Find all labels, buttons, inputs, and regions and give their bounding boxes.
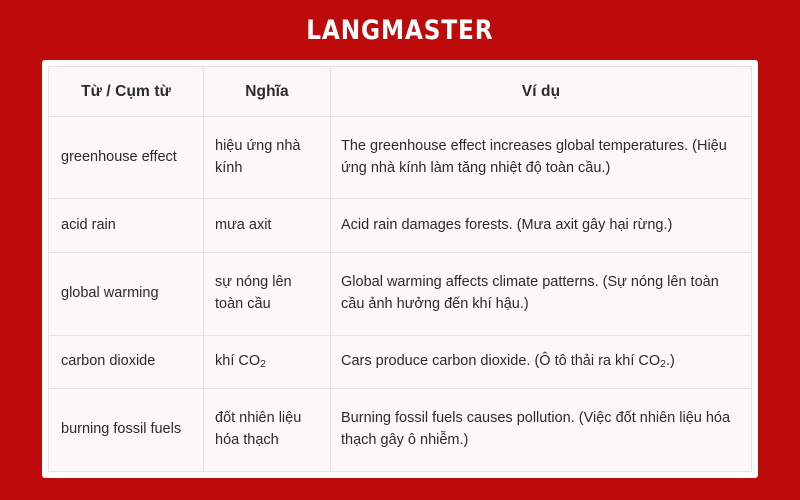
example-text: Global warming affects climate patterns.… bbox=[341, 274, 719, 312]
poster-root: LANGMASTER Từ / Cụm từ Nghĩa Ví dụ green… bbox=[0, 0, 800, 500]
brand-header: LANGMASTER bbox=[0, 0, 800, 60]
cell-term: carbon dioxide bbox=[49, 335, 204, 389]
cell-meaning: khí CO2 bbox=[204, 335, 331, 389]
example-text-tail: .) bbox=[666, 353, 675, 369]
example-text: Acid rain damages forests. (Mưa axit gây… bbox=[341, 217, 672, 233]
cell-example: Global warming affects climate patterns.… bbox=[331, 253, 752, 335]
cell-example: Burning fossil fuels causes pollution. (… bbox=[331, 389, 752, 472]
meaning-text: khí CO bbox=[215, 353, 260, 369]
table-header-row: Từ / Cụm từ Nghĩa Ví dụ bbox=[49, 67, 752, 117]
table-row: carbon dioxide khí CO2 Cars produce carb… bbox=[49, 335, 752, 389]
example-text: Cars produce carbon dioxide. (Ô tô thải … bbox=[341, 353, 660, 369]
table-row: burning fossil fuels đốt nhiên liệu hóa … bbox=[49, 389, 752, 472]
cell-term: greenhouse effect bbox=[49, 117, 204, 199]
subscript-two: 2 bbox=[660, 359, 666, 370]
table-body: greenhouse effect hiệu ứng nhà kính The … bbox=[49, 117, 752, 472]
cell-example: Cars produce carbon dioxide. (Ô tô thải … bbox=[331, 335, 752, 389]
cell-term: global warming bbox=[49, 253, 204, 335]
table-header: Từ / Cụm từ Nghĩa Ví dụ bbox=[49, 67, 752, 117]
cell-meaning: đốt nhiên liệu hóa thạch bbox=[204, 389, 331, 472]
column-header-example: Ví dụ bbox=[331, 67, 752, 117]
cell-example: Acid rain damages forests. (Mưa axit gây… bbox=[331, 199, 752, 253]
table-row: greenhouse effect hiệu ứng nhà kính The … bbox=[49, 117, 752, 199]
cell-example: The greenhouse effect increases global t… bbox=[331, 117, 752, 199]
subscript-two: 2 bbox=[260, 359, 266, 370]
vocabulary-card: Từ / Cụm từ Nghĩa Ví dụ greenhouse effec… bbox=[42, 60, 758, 478]
column-header-meaning: Nghĩa bbox=[204, 67, 331, 117]
column-header-term: Từ / Cụm từ bbox=[49, 67, 204, 117]
vocabulary-table: Từ / Cụm từ Nghĩa Ví dụ greenhouse effec… bbox=[48, 66, 752, 472]
example-text: Burning fossil fuels causes pollution. (… bbox=[341, 410, 730, 448]
langmaster-logo: LANGMASTER bbox=[306, 17, 493, 44]
cell-term: burning fossil fuels bbox=[49, 389, 204, 472]
example-text: The greenhouse effect increases global t… bbox=[341, 138, 727, 176]
cell-term: acid rain bbox=[49, 199, 204, 253]
cell-meaning: sự nóng lên toàn cầu bbox=[204, 253, 331, 335]
cell-meaning: mưa axit bbox=[204, 199, 331, 253]
table-row: acid rain mưa axit Acid rain damages for… bbox=[49, 199, 752, 253]
table-row: global warming sự nóng lên toàn cầu Glob… bbox=[49, 253, 752, 335]
cell-meaning: hiệu ứng nhà kính bbox=[204, 117, 331, 199]
